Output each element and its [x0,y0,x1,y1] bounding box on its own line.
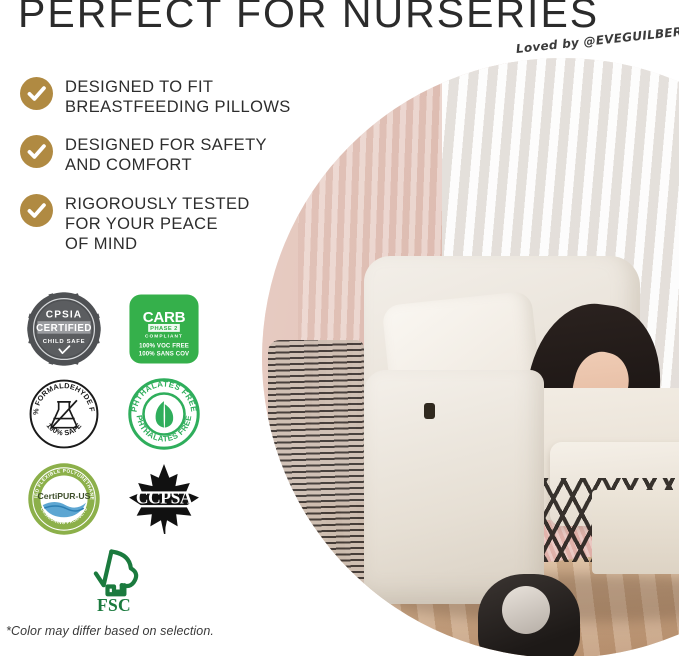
svg-text:CCPSA: CCPSA [136,487,193,507]
check-circle-icon [20,77,53,110]
product-feature-panel: PERFECT FOR NURSERIES Loved by @EVEGUILB… [0,0,679,656]
certification-row: FSC [14,541,214,619]
certification-item: CERTIFIED FLEXIBLE POLYURETHANE FOAM CUS… [14,456,114,541]
carb-phase-2-badge-icon: CARB PHASE 2 COMPLIANT 100% VOC FREE 100… [128,293,200,365]
check-circle-icon [20,135,53,168]
certification-item: CPSIA CERTIFIED CHILD SAFE [14,286,114,371]
svg-text:100% SANS COV: 100% SANS COV [139,351,189,357]
feature-label: DESIGNED TO FIT BREASTFEEDING PILLOWS [65,75,291,117]
svg-text:PHTHALATES FREE: PHTHALATES FREE [135,414,194,443]
cpsia-certified-badge-icon: CPSIA CERTIFIED CHILD SAFE [25,290,103,368]
svg-text:PHASE 2: PHASE 2 [150,326,178,332]
certification-item: CARB PHASE 2 COMPLIANT 100% VOC FREE 100… [114,286,214,371]
lifestyle-photo-scene [262,58,679,656]
color-disclaimer: *Color may differ based on selection. [6,624,214,638]
feature-label: DESIGNED FOR SAFETY AND COMFORT [65,133,267,175]
lifestyle-photo [262,58,679,656]
feature-label: RIGOROUSLY TESTED FOR YOUR PEACE OF MIND [65,192,250,254]
check-circle-icon [20,194,53,227]
phthalates-free-badge-icon: PHTHALATES FREE PHTHALATES FREE [126,376,202,452]
fsc-badge-icon: FSC [81,545,147,615]
svg-text:CARB: CARB [143,308,186,325]
svg-text:PHTHALATES FREE: PHTHALATES FREE [130,379,199,412]
svg-text:CHILD SAFE: CHILD SAFE [43,339,85,345]
svg-text:100% VOC FREE: 100% VOC FREE [139,343,189,349]
certification-item: 100% FORMALDEHYDE FREE 100% SAFE [14,371,114,456]
dog-face [502,586,550,634]
certification-item: FSC [64,538,164,623]
feature-item: DESIGNED TO FIT BREASTFEEDING PILLOWS [20,75,295,117]
footrest-skirt [592,490,679,574]
svg-text:CERTIFIED: CERTIFIED [36,322,92,333]
certification-row: CPSIA CERTIFIED CHILD SAFE CARB PHASE 2 … [14,286,214,371]
certification-row: CERTIFIED FLEXIBLE POLYURETHANE FOAM CUS… [14,456,214,541]
ccpsa-maple-leaf-badge-icon: CCPSA [126,461,202,537]
svg-text:COMPLIANT: COMPLIANT [145,333,183,339]
woven-basket [268,340,364,610]
svg-text:CPSIA: CPSIA [46,309,82,320]
recliner-knob [424,403,435,419]
svg-text:CertiPUR-US: CertiPUR-US [38,491,91,501]
svg-text:FSC: FSC [97,595,131,615]
glider-chair-side-panel [364,370,544,604]
certification-item: PHTHALATES FREE PHTHALATES FREE [114,371,214,456]
svg-text:100% SAFE: 100% SAFE [45,421,84,437]
feature-item: RIGOROUSLY TESTED FOR YOUR PEACE OF MIND [20,192,295,254]
page-title: PERFECT FOR NURSERIES [18,0,599,37]
certification-item: CCPSA [114,456,214,541]
certipur-us-badge-icon: CERTIFIED FLEXIBLE POLYURETHANE FOAM CUS… [26,461,102,537]
certification-badges: CPSIA CERTIFIED CHILD SAFE CARB PHASE 2 … [14,286,214,619]
feature-item: DESIGNED FOR SAFETY AND COMFORT [20,133,295,175]
formaldehyde-free-badge-icon: 100% FORMALDEHYDE FREE 100% SAFE [26,376,102,452]
feature-list: DESIGNED TO FIT BREASTFEEDING PILLOWS DE… [20,75,295,270]
certification-row: 100% FORMALDEHYDE FREE 100% SAFE [14,371,214,456]
